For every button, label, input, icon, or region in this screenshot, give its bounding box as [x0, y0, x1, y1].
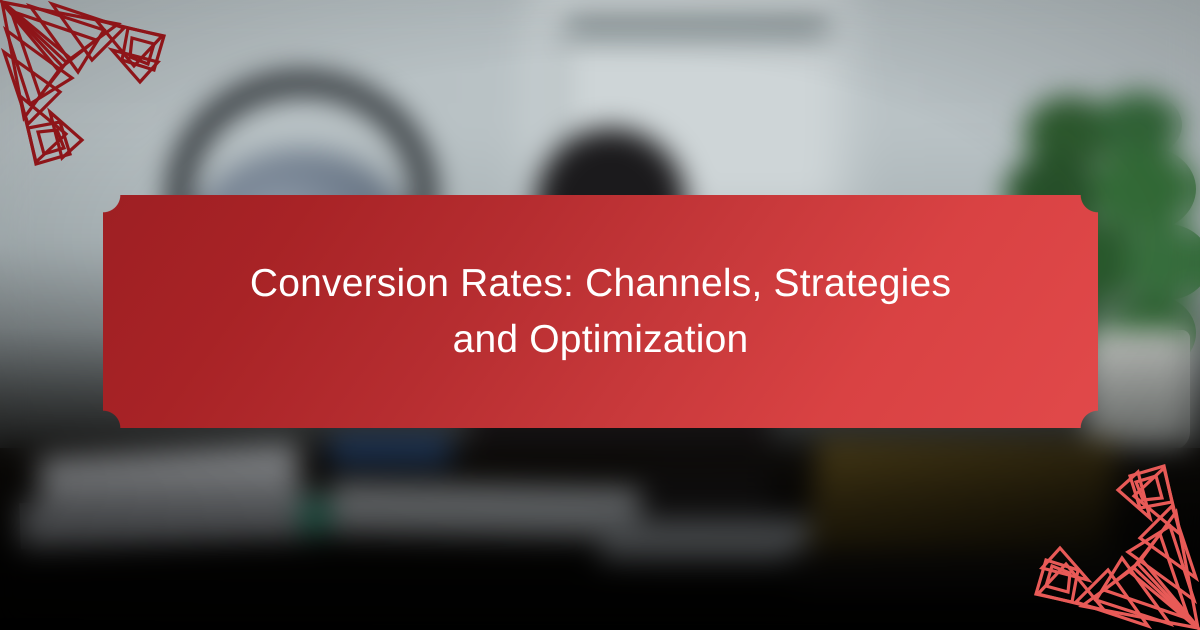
title-banner: Conversion Rates: Channels, Strategies a… — [103, 195, 1098, 428]
page-title: Conversion Rates: Channels, Strategies a… — [221, 256, 981, 368]
title-card: Conversion Rates: Channels, Strategies a… — [0, 0, 1200, 630]
